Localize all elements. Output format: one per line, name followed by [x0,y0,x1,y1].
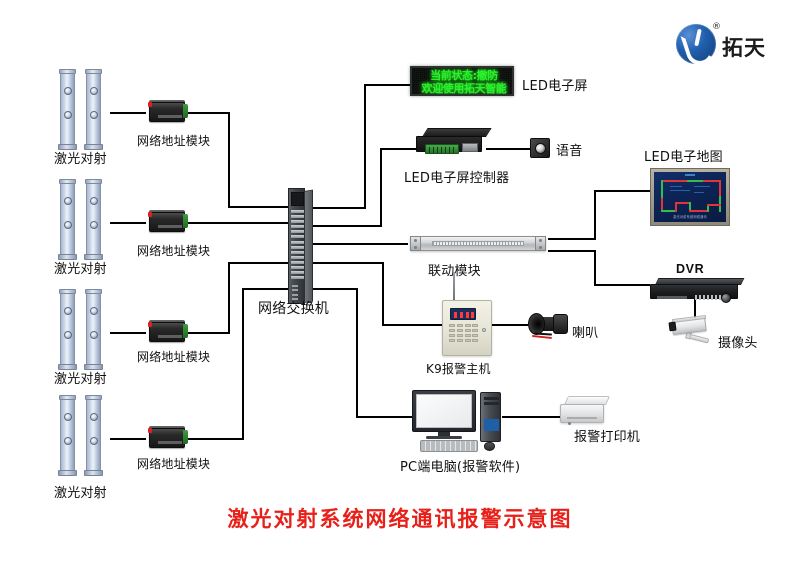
led-display-line1: 当前状态:撤防 [414,70,514,82]
led-display-label: LED电子屏 [522,75,588,94]
led-electronic-map: 激光对射系统网络通讯 [650,168,730,226]
pc-tower [480,392,501,442]
k9-alarm-host [442,300,492,356]
wire-switch-to-pc-h [310,288,358,290]
wire-switch-to-ledctl-v [380,148,382,227]
module-label-2: 网络地址模块 [137,242,210,259]
switch-label: 网络交换机 [258,298,329,318]
wire-module1-right [186,112,230,114]
module-label-3: 网络地址模块 [137,348,210,365]
diagram-canvas: ® 拓天 [0,0,800,579]
wire-switch-to-leddisplay-v [364,84,366,209]
led-map-caption: 激光对射系统网络通讯 [654,214,726,219]
brand-logo: ® 拓天 [676,24,796,70]
wire-k9-in [382,324,442,326]
laser-beam-detector-4 [60,398,112,476]
pc-mouse [484,442,495,451]
registered-mark: ® [712,22,721,32]
pc-keyboard [420,440,478,452]
laser-label-2: 激光对射 [54,258,107,277]
laser-beam-detector-3 [60,292,112,370]
module-label-4: 网络地址模块 [137,455,210,472]
wire-module1-down [228,112,230,208]
wire-leddisplay-in [364,84,410,86]
wire-switch-to-ledctl-h [310,225,382,227]
wire-dvr-in [594,284,650,286]
network-address-module-2 [146,210,188,234]
pc-label: PC端电脑(报警软件) [400,456,520,475]
laser-beam-detector-1 [60,72,112,150]
wire-switch-to-leddisplay-h [310,207,366,209]
wire-module4-right [186,438,244,440]
horn-label: 喇叭 [572,322,598,341]
led-controller-label: LED电子屏控制器 [404,167,509,186]
laser-label-1: 激光对射 [54,148,107,167]
wire-switch-to-linkage [310,243,408,245]
led-map-label: LED电子地图 [644,146,723,165]
wire-laser1-to-module1 [110,112,146,114]
brand-logo-icon [676,24,716,64]
wire-linkage-to-map-v [594,190,596,240]
diagram-title: 激光对射系统网络通讯报警示意图 [0,503,800,533]
pc-workstation [412,390,522,452]
laser-label-4: 激光对射 [54,482,107,501]
dvr-label: DVR [676,262,704,276]
wire-k9-to-horn [492,324,528,326]
laser-beam-detector-2 [60,182,112,260]
led-screen-controller [416,128,488,158]
k9-host-label: K9报警主机 [426,360,491,377]
printer-label: 报警打印机 [574,426,640,445]
module-label-1: 网络地址模块 [137,132,210,149]
wire-laser4-to-module4 [110,438,146,440]
led-display-line2: 欢迎使用拓天智能 [414,83,514,95]
surveillance-camera [668,318,716,350]
wire-module4-to-switch [242,288,290,290]
wire-switch-to-k9-h [310,262,384,264]
wire-module3-right [186,332,230,334]
wire-pc-in [356,416,412,418]
network-address-module-3 [146,320,188,344]
network-switch [288,188,314,304]
laser-label-3: 激光对射 [54,368,107,387]
voice-speaker [530,138,550,158]
wire-linkage-to-map-h1 [548,238,596,240]
dvr-device [650,278,742,304]
wire-laser3-to-module3 [110,332,146,334]
linkage-module [410,233,546,255]
wire-linkage-to-dvr-h1 [548,250,596,252]
wire-switch-to-k9-v [382,262,384,326]
network-address-module-1 [146,100,188,124]
wire-map-in [594,190,650,192]
pc-monitor [412,390,476,432]
wire-ledctl-to-voice [486,148,530,150]
alarm-printer [560,396,608,428]
camera-label: 摄像头 [718,332,758,351]
network-address-module-4 [146,426,188,450]
horn-speaker [528,311,570,339]
wire-ledctl-in [380,148,416,150]
wire-linkage-to-dvr-v [594,250,596,286]
wire-module1-to-switch [228,206,290,208]
brand-name: 拓天 [722,32,766,62]
wire-module4-up [242,288,244,440]
led-display-screen: 当前状态:撤防 欢迎使用拓天智能 [410,66,514,96]
wire-switch-to-pc-v [356,288,358,418]
wire-module3-up [228,262,230,334]
wire-module2-to-switch [186,222,290,224]
voice-label: 语音 [556,140,582,159]
wire-laser2-to-module2 [110,222,146,224]
wire-module3-to-switch [228,262,290,264]
